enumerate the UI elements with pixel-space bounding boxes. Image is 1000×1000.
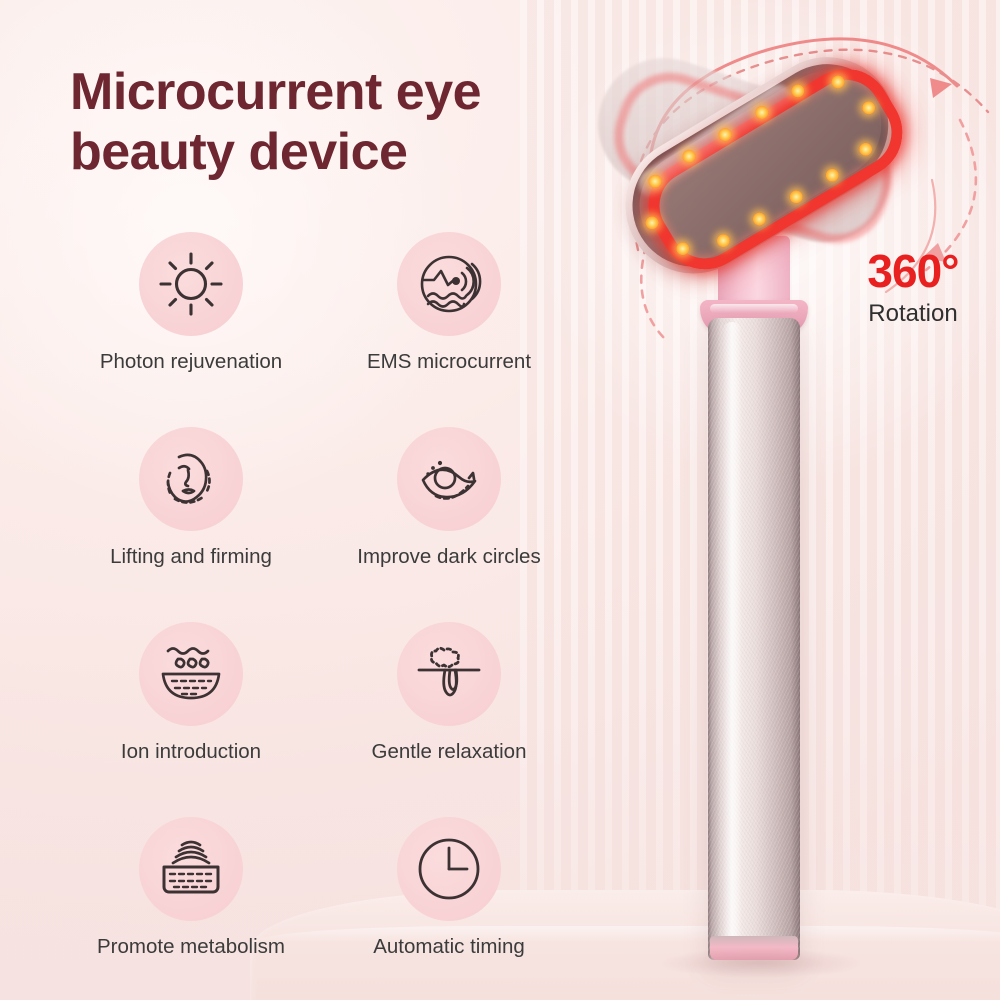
rotation-callout: 360° Rotation bbox=[838, 248, 988, 328]
page-title: Microcurrent eye beauty device bbox=[70, 62, 630, 183]
device-shadow bbox=[656, 948, 866, 978]
feature-item-ion-introduction: Ion introduction bbox=[62, 622, 320, 764]
feature-item-lifting-and-firming: Lifting and firming bbox=[62, 427, 320, 569]
title-line-2: beauty device bbox=[70, 122, 630, 182]
feature-grid: Photon rejuvenation EMS microcurre bbox=[62, 232, 592, 959]
feature-item-automatic-timing: Automatic timing bbox=[320, 817, 578, 959]
feature-item-gentle-relaxation: Gentle relaxation bbox=[320, 622, 578, 764]
ems-wave-icon bbox=[397, 232, 501, 336]
feature-label: Lifting and firming bbox=[110, 545, 272, 569]
face-profile-icon bbox=[139, 427, 243, 531]
feature-row: Lifting and firming Improve dark circles bbox=[62, 427, 592, 569]
feature-label: Ion introduction bbox=[121, 740, 261, 764]
product-banner: Microcurrent eye beauty device Photon re… bbox=[0, 0, 1000, 1000]
sun-icon bbox=[139, 232, 243, 336]
feature-label: Photon rejuvenation bbox=[100, 350, 282, 374]
water-bowl-droplets-icon bbox=[139, 622, 243, 726]
title-line-1: Microcurrent eye bbox=[70, 63, 481, 121]
feature-label: EMS microcurrent bbox=[367, 350, 531, 374]
feature-item-photon-rejuvenation: Photon rejuvenation bbox=[62, 232, 320, 374]
feature-label: Gentle relaxation bbox=[372, 740, 527, 764]
product-device: 360° Rotation bbox=[560, 0, 1000, 1000]
skin-layers-waves-icon bbox=[139, 817, 243, 921]
feature-item-ems-microcurrent: EMS microcurrent bbox=[320, 232, 578, 374]
feature-label: Promote metabolism bbox=[97, 935, 285, 959]
feature-row: Promote metabolism Automatic timing bbox=[62, 817, 592, 959]
device-handle-highlight bbox=[722, 322, 742, 952]
eye-icon bbox=[397, 427, 501, 531]
feature-label: Automatic timing bbox=[373, 935, 525, 959]
pore-follicle-icon bbox=[397, 622, 501, 726]
rotation-value: 360° bbox=[838, 248, 988, 294]
feature-row: Ion introduction Gentle relaxation bbox=[62, 622, 592, 764]
clock-icon bbox=[397, 817, 501, 921]
feature-row: Photon rejuvenation EMS microcurre bbox=[62, 232, 592, 374]
feature-item-promote-metabolism: Promote metabolism bbox=[62, 817, 320, 959]
rotation-label: Rotation bbox=[838, 300, 988, 328]
feature-item-improve-dark-circles: Improve dark circles bbox=[320, 427, 578, 569]
feature-label: Improve dark circles bbox=[357, 545, 540, 569]
